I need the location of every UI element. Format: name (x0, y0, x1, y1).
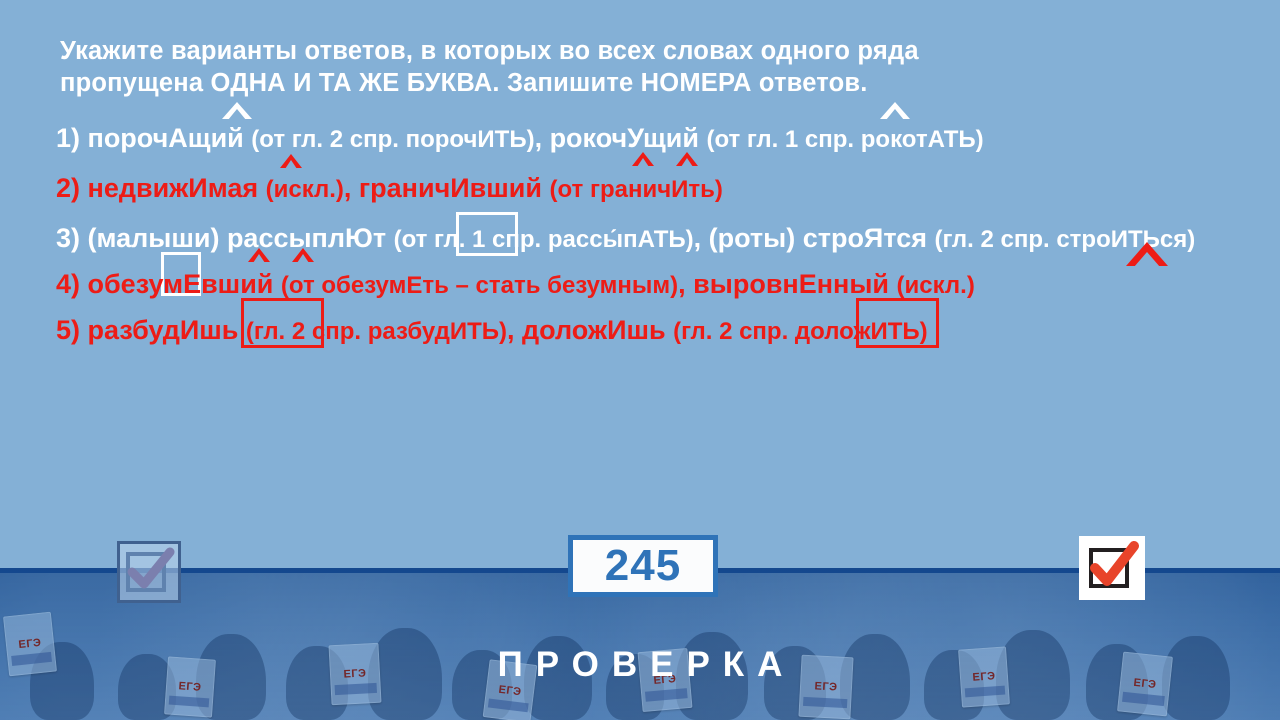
answer-option-3: 3) (малыши) рассыплЮт (от гл. 1 спр. рас… (56, 218, 1260, 260)
slide-root: ЕГЭ ЕГЭ ЕГЭ ЕГЭ ЕГЭ ЕГЭ (0, 0, 1280, 720)
question-prompt: Укажите варианты ответов, в которых во в… (60, 36, 1240, 98)
suffix-caret-icon (292, 248, 314, 262)
footer-caption: ПРОВЕРКА (0, 645, 1280, 685)
answer-1-note-a: (от гл. 2 спр. порочИТЬ) (251, 126, 534, 153)
answer-1-part-a: 1) порочАщий (56, 123, 251, 153)
suffix-caret-icon (632, 152, 654, 166)
suffix-caret-icon (222, 102, 252, 119)
answer-result-value: 245 (605, 541, 681, 591)
answer-2-part-b: , граничИвший (344, 173, 550, 203)
answer-5-part-a: 5) разбудИшь (56, 315, 246, 345)
answer-4-part-a: 4) обезумЕвший (56, 269, 281, 299)
prompt-line-2: пропущена ОДНА И ТА ЖЕ БУКВА. Запишите Н… (60, 68, 1240, 98)
answer-3-part-a: 3) (малыши) рассыплЮт (56, 223, 394, 253)
suffix-caret-icon (676, 152, 698, 166)
answer-3-note-a: (от гл. 1 спр. рассы́пАТЬ) (394, 226, 694, 253)
answer-5-part-b: , доложИшь (507, 315, 673, 345)
answer-3-part-b: , (роты) строЯтся (694, 223, 935, 253)
ending-box (456, 212, 518, 256)
answer-option-1: 1) порочАщий (от гл. 2 спр. порочИТЬ), р… (56, 118, 1260, 160)
answer-options-list: 1) порочАщий (от гл. 2 спр. порочИТЬ), р… (56, 118, 1260, 352)
answer-result-box: 245 (568, 535, 718, 597)
answer-1-part-b: , рокочУщий (535, 123, 707, 153)
suffix-caret-icon (880, 102, 910, 119)
prompt-line-1: Укажите варианты ответов, в которых во в… (60, 36, 1240, 66)
checkbox-check-icon (120, 544, 178, 600)
answer-2-part-a: 2) недвижИмая (56, 173, 266, 203)
suffix-caret-icon (1126, 242, 1168, 266)
answer-1-note-b: (от гл. 1 спр. рокотАТЬ) (706, 126, 983, 153)
suffix-caret-icon (280, 154, 302, 168)
ending-box (856, 298, 939, 348)
checkbox-checked (1079, 536, 1145, 600)
answer-2-note-a: (искл.) (266, 176, 344, 203)
answer-option-5: 5) разбудИшь (гл. 2 спр. разбудИТЬ), дол… (56, 310, 1260, 352)
answer-option-4: 4) обезумЕвший (от обезумЕть – стать без… (56, 264, 1260, 306)
checkbox-ghost (117, 541, 181, 603)
answer-option-2: 2) недвижИмая (искл.), граничИвший (от г… (56, 168, 1260, 210)
answer-4-part-b: , выровнЕнный (678, 269, 896, 299)
suffix-caret-icon (248, 248, 270, 262)
answer-4-note-a: (от обезумЕть – стать безумным) (281, 272, 678, 299)
checkbox-check-icon (1083, 540, 1141, 596)
answer-4-note-b: (искл.) (897, 272, 975, 299)
answer-2-note-b: (от граничИть) (549, 176, 722, 203)
ending-box (241, 298, 324, 348)
